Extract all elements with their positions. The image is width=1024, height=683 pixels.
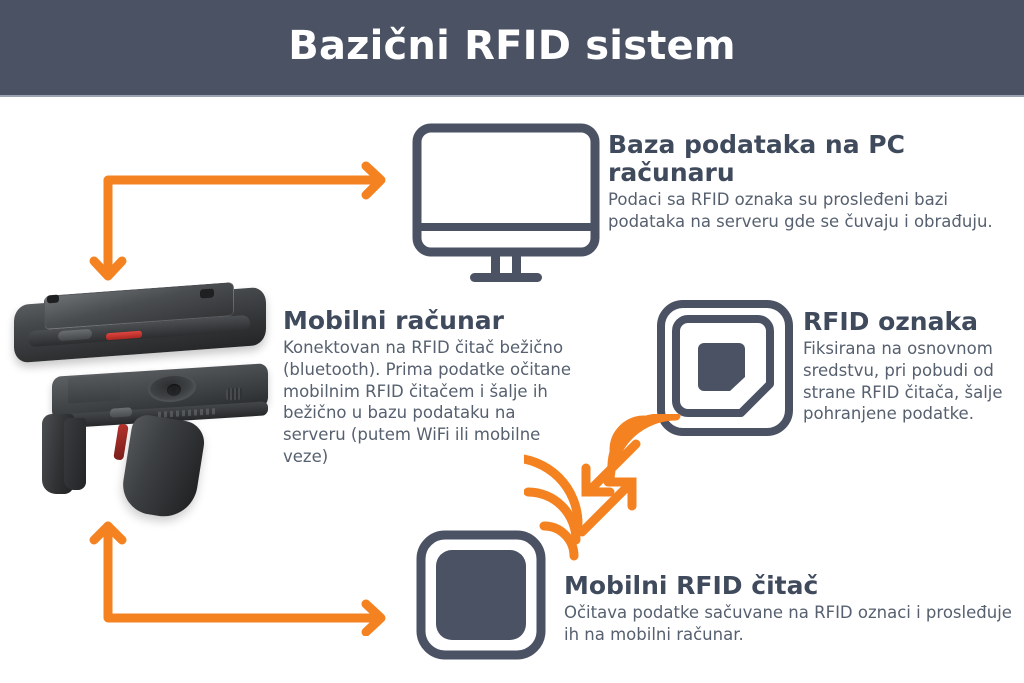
rfid-reader-heading: Mobilni RFID čitač <box>564 572 1014 600</box>
mobile-computer-text-block: Mobilni računar Konektovan na RFID čitač… <box>283 307 583 468</box>
database-body: Podaci sa RFID oznaka su prosleđeni bazi… <box>608 189 1008 233</box>
gun-front-hook-inner <box>64 418 86 490</box>
gun-side-panel <box>68 374 120 403</box>
infographic-page: Bazični RFID sistem <box>0 0 1024 683</box>
handheld-device-photo <box>14 286 266 364</box>
handheld-clip-left <box>47 295 59 304</box>
arrow-handheld-to-database <box>88 158 408 290</box>
mobile-computer-body: Konektovan na RFID čitač bežično (blueto… <box>283 337 583 468</box>
page-header: Bazični RFID sistem <box>0 0 1024 97</box>
rfid-tag-body: Fiksirana na osnovnom sredstvu, pri pobu… <box>803 338 1021 425</box>
rfid-tag-heading: RFID oznaka <box>803 308 1021 336</box>
gun-side-button <box>110 407 132 417</box>
gun-speaker-grille <box>226 387 242 400</box>
rfid-reader-body: Očitava podatke sačuvane na RFID oznaci … <box>564 602 1014 646</box>
mobile-computer-heading: Mobilni računar <box>283 307 583 335</box>
handheld-clip-right <box>200 288 214 298</box>
page-title: Bazični RFID sistem <box>288 26 736 70</box>
rfid-tag-text-block: RFID oznaka Fiksirana na osnovnom sredst… <box>803 308 1021 425</box>
rfid-reader-text-block: Mobilni RFID čitač Očitava podatke sačuv… <box>564 572 1014 646</box>
database-text-block: Baza podataka na PC računaru Podaci sa R… <box>608 131 1008 233</box>
desktop-monitor-icon <box>408 122 604 284</box>
database-heading: Baza podataka na PC računaru <box>608 131 1008 187</box>
gun-grip-handle <box>119 413 207 521</box>
arrow-reader-to-gun <box>88 508 408 636</box>
rfid-gun-scanner-photo <box>30 366 270 516</box>
